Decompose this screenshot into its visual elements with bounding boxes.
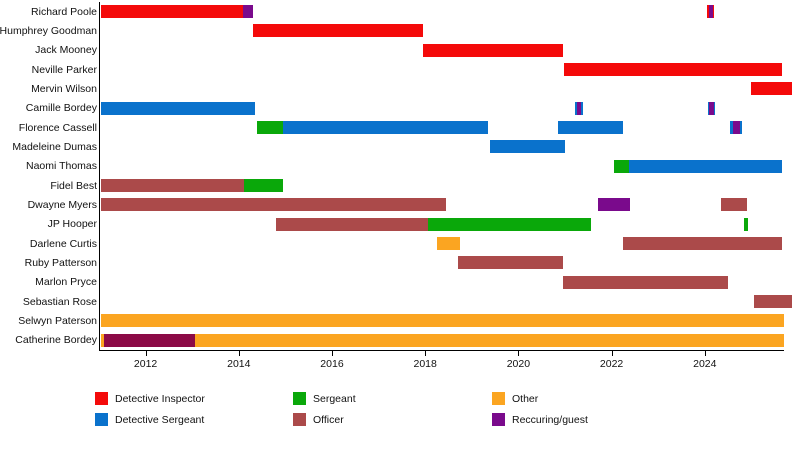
x-tick-label: 2020: [507, 358, 530, 370]
legend-swatch-icon: [95, 413, 108, 426]
row-label-camille-bordey: Camille Bordey: [26, 102, 97, 114]
gantt-bar-segment[interactable]: [598, 198, 631, 211]
row-label-marlon-pryce: Marlon Pryce: [35, 276, 97, 288]
legend-item-officer[interactable]: Officer: [293, 413, 344, 426]
x-axis-line: [99, 350, 784, 351]
legend-label: Reccuring/guest: [512, 414, 588, 426]
row-label-richard-poole: Richard Poole: [31, 6, 97, 18]
gantt-row: Madeleine Dumas: [0, 137, 800, 156]
x-tick: [612, 350, 613, 356]
gantt-bar-segment[interactable]: [751, 82, 792, 95]
gantt-row: Sebastian Rose: [0, 292, 800, 311]
legend-swatch-icon: [95, 392, 108, 405]
gantt-bar-segment[interactable]: [257, 121, 283, 134]
gantt-bar-segment[interactable]: [101, 334, 784, 347]
gantt-bar-segment[interactable]: [428, 218, 591, 231]
row-label-ruby-patterson: Ruby Patterson: [25, 257, 97, 269]
gantt-bar-segment[interactable]: [101, 314, 784, 327]
gantt-row: Mervin Wilson: [0, 79, 800, 98]
x-tick: [518, 350, 519, 356]
gantt-row: Camille Bordey: [0, 99, 800, 118]
row-label-madeleine-dumas: Madeleine Dumas: [12, 141, 97, 153]
x-tick: [239, 350, 240, 356]
x-tick-label: 2022: [600, 358, 623, 370]
gantt-row: Jack Mooney: [0, 41, 800, 60]
row-label-jp-hooper: JP Hooper: [48, 218, 97, 230]
gantt-bar-segment[interactable]: [721, 198, 747, 211]
gantt-row: Richard Poole: [0, 2, 800, 21]
gantt-bar-segment[interactable]: [101, 102, 255, 115]
x-tick: [146, 350, 147, 356]
x-tick-label: 2014: [227, 358, 250, 370]
gantt-row: Marlon Pryce: [0, 273, 800, 292]
legend-label: Detective Sergeant: [115, 414, 204, 426]
legend-item-reccuring-guest[interactable]: Reccuring/guest: [492, 413, 588, 426]
gantt-bar-segment[interactable]: [101, 5, 243, 18]
gantt-row: Dwayne Myers: [0, 195, 800, 214]
row-label-selwyn-paterson: Selwyn Paterson: [18, 315, 97, 327]
gantt-bar-segment[interactable]: [558, 121, 623, 134]
legend-swatch-icon: [293, 392, 306, 405]
gantt-bar-segment[interactable]: [623, 237, 781, 250]
gantt-bar-segment[interactable]: [709, 5, 713, 18]
x-tick: [425, 350, 426, 356]
gantt-row: Ruby Patterson: [0, 253, 800, 272]
gantt-bar-segment[interactable]: [244, 179, 283, 192]
gantt-bar-segment[interactable]: [101, 198, 446, 211]
gantt-bar-segment[interactable]: [104, 334, 195, 347]
gantt-bar-segment[interactable]: [629, 160, 781, 173]
x-tick: [705, 350, 706, 356]
legend-label: Other: [512, 393, 538, 405]
legend-item-detective-sergeant[interactable]: Detective Sergeant: [95, 413, 204, 426]
legend-swatch-icon: [293, 413, 306, 426]
gantt-bar-segment[interactable]: [754, 295, 793, 308]
x-tick-label: 2012: [134, 358, 157, 370]
gantt-row: Humphrey Goodman: [0, 21, 800, 40]
legend-swatch-icon: [492, 392, 505, 405]
gantt-row: Darlene Curtis: [0, 234, 800, 253]
row-label-darlene-curtis: Darlene Curtis: [30, 238, 97, 250]
gantt-bar-segment[interactable]: [490, 140, 565, 153]
gantt-bar-segment[interactable]: [253, 24, 423, 37]
gantt-row: Naomi Thomas: [0, 157, 800, 176]
gantt-row: Selwyn Paterson: [0, 311, 800, 330]
gantt-bar-segment[interactable]: [243, 5, 252, 18]
gantt-chart: Richard PooleHumphrey GoodmanJack Mooney…: [0, 0, 800, 450]
gantt-row: Fidel Best: [0, 176, 800, 195]
row-label-catherine-bordey: Catherine Bordey: [15, 334, 97, 346]
row-label-neville-parker: Neville Parker: [32, 64, 97, 76]
legend-item-detective-inspector[interactable]: Detective Inspector: [95, 392, 205, 405]
gantt-bar-segment[interactable]: [709, 102, 713, 115]
legend-label: Detective Inspector: [115, 393, 205, 405]
x-tick-label: 2018: [414, 358, 437, 370]
legend-label: Officer: [313, 414, 344, 426]
gantt-bar-segment[interactable]: [577, 102, 582, 115]
gantt-bar-segment[interactable]: [614, 160, 629, 173]
x-tick: [332, 350, 333, 356]
legend-swatch-icon: [492, 413, 505, 426]
row-label-humphrey-goodman: Humphrey Goodman: [0, 25, 97, 37]
x-tick-label: 2024: [693, 358, 716, 370]
gantt-bar-segment[interactable]: [276, 218, 427, 231]
row-label-fidel-best: Fidel Best: [50, 180, 97, 192]
gantt-bar-segment[interactable]: [437, 237, 460, 250]
gantt-bar-segment[interactable]: [101, 179, 244, 192]
legend-item-sergeant[interactable]: Sergeant: [293, 392, 356, 405]
gantt-bar-segment[interactable]: [283, 121, 488, 134]
gantt-row: JP Hooper: [0, 215, 800, 234]
gantt-bar-segment[interactable]: [563, 276, 728, 289]
row-label-jack-mooney: Jack Mooney: [35, 44, 97, 56]
x-tick-label: 2016: [320, 358, 343, 370]
row-label-mervin-wilson: Mervin Wilson: [31, 83, 97, 95]
gantt-bar-segment[interactable]: [458, 256, 563, 269]
gantt-bar-segment[interactable]: [733, 121, 740, 134]
gantt-bar-segment[interactable]: [423, 44, 563, 57]
gantt-bar-segment[interactable]: [564, 63, 782, 76]
gantt-row: Catherine Bordey: [0, 331, 800, 350]
row-label-sebastian-rose: Sebastian Rose: [23, 296, 97, 308]
chart-legend: Detective InspectorDetective SergeantSer…: [0, 392, 800, 442]
gantt-row: Neville Parker: [0, 60, 800, 79]
row-label-naomi-thomas: Naomi Thomas: [26, 160, 97, 172]
row-label-dwayne-myers: Dwayne Myers: [28, 199, 97, 211]
row-label-florence-cassell: Florence Cassell: [19, 122, 97, 134]
legend-item-other[interactable]: Other: [492, 392, 538, 405]
gantt-row: Florence Cassell: [0, 118, 800, 137]
gantt-bar-segment[interactable]: [744, 218, 747, 231]
legend-label: Sergeant: [313, 393, 356, 405]
